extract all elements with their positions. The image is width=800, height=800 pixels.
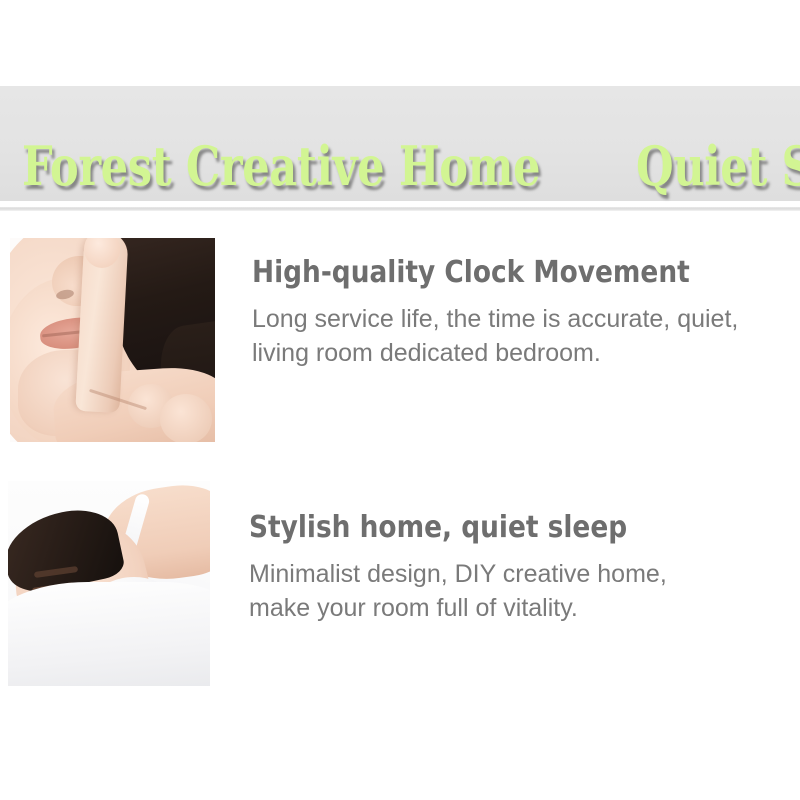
- feature-title-stylish-home: Stylish home, quiet sleep: [249, 511, 627, 544]
- banner-divider: [0, 207, 800, 211]
- feature-text-clock-movement: High-quality Clock Movement Long service…: [215, 238, 752, 371]
- feature-image-sleeping-woman: [8, 481, 210, 686]
- hero-banner: Forest Creative Home Quiet Sleep: [0, 86, 800, 201]
- sleep-pillow: [8, 582, 210, 686]
- feature-body-stylish-home: Minimalist design, DIY creative home, ma…: [249, 558, 679, 626]
- promo-page: Forest Creative Home Quiet Sleep Hig: [0, 0, 800, 800]
- feature-body-clock-movement: Long service life, the time is accurate,…: [252, 303, 752, 371]
- feature-row-stylish-home: Stylish home, quiet sleep Minimalist des…: [8, 481, 679, 686]
- banner-title-secondary: Quiet Sleep: [636, 139, 800, 193]
- shh-knuckle-two: [160, 394, 212, 442]
- banner-title-primary: Forest Creative Home: [22, 139, 540, 193]
- feature-title-clock-movement: High-quality Clock Movement: [252, 256, 692, 289]
- feature-text-stylish-home: Stylish home, quiet sleep Minimalist des…: [210, 481, 679, 626]
- feature-image-shushing-woman: [10, 238, 215, 442]
- banner-title-row: Forest Creative Home Quiet Sleep: [0, 139, 800, 201]
- feature-row-clock-movement: High-quality Clock Movement Long service…: [10, 238, 752, 442]
